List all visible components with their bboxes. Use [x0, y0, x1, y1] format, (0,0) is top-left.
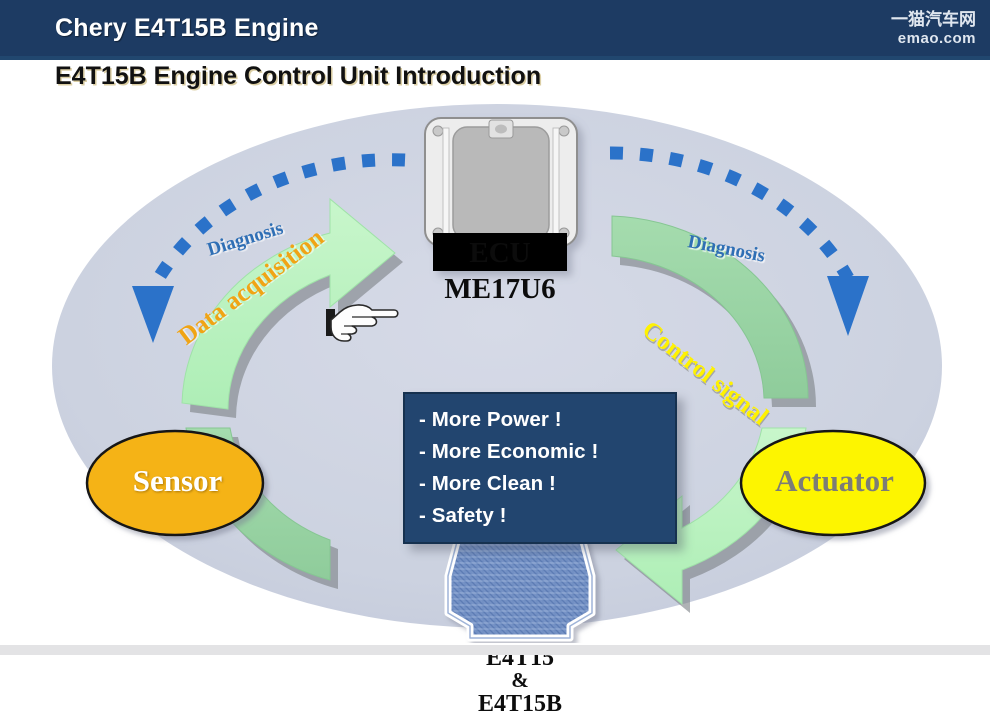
page-title: Chery E4T15B Engine [55, 14, 319, 43]
watermark-en-text: emao.com [898, 31, 976, 46]
page-subtitle: E4T15B Engine Control Unit Introduction [55, 62, 541, 91]
benefit-item: - Safety ! [419, 500, 675, 532]
actuator-label: Actuator [742, 463, 927, 499]
engine-label-line3: E4T15B [440, 692, 600, 716]
benefits-callout-box: - More Power ! - More Economic ! - More … [403, 392, 677, 544]
diagram-canvas [0, 98, 990, 643]
ecu-label-line1: ECU [430, 236, 570, 272]
ecu-cycle-diagram: ECU ME17U6 Sensor Actuator E4T15 & E4T15… [0, 98, 990, 643]
ecu-label: ECU ME17U6 [430, 236, 570, 307]
benefit-item: - More Clean ! [419, 468, 675, 500]
header-accent-rule [0, 56, 990, 60]
benefit-item: - More Economic ! [419, 436, 675, 468]
watermark-logo: 一猫汽车网 emao.com [866, 4, 976, 52]
engine-label-amp: & [440, 670, 600, 691]
sensor-label: Sensor [95, 463, 260, 499]
engine-block-label: E4T15 & E4T15B [440, 646, 600, 716]
footer-band [0, 645, 990, 655]
watermark-cn-text: 一猫汽车网 [891, 11, 976, 28]
benefit-item: - More Power ! [419, 404, 675, 436]
header-bar: Chery E4T15B Engine 一猫汽车网 emao.com [0, 0, 990, 56]
ecu-label-line2: ME17U6 [430, 272, 570, 308]
